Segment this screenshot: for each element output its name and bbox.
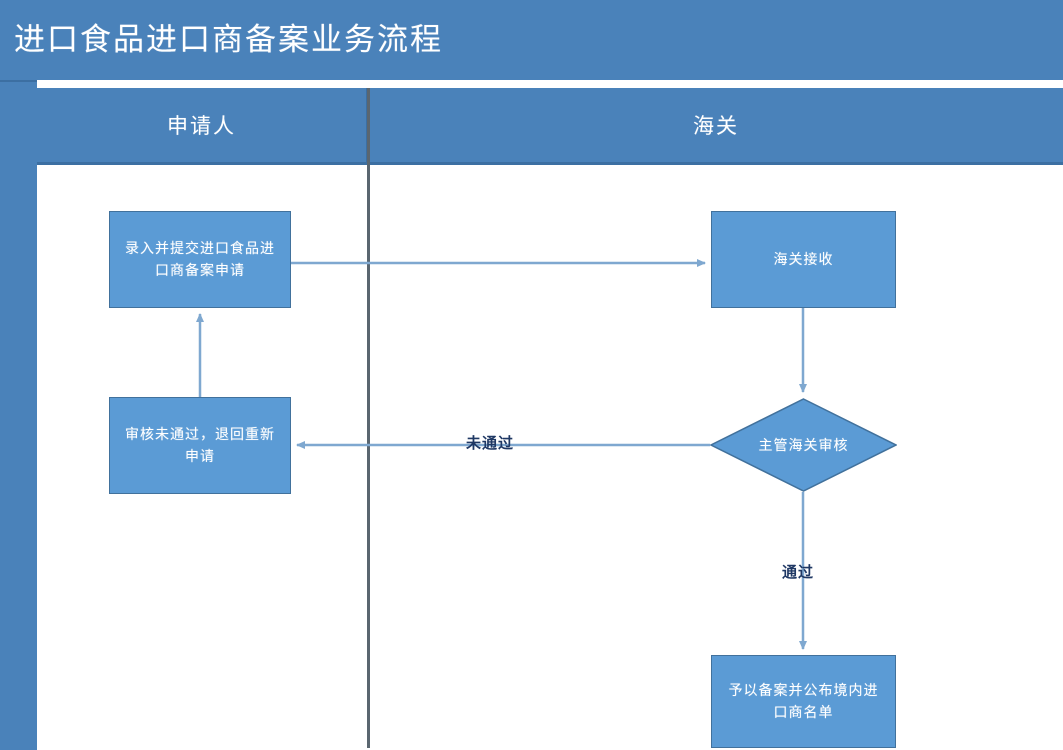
lane-header-applicant-label: 申请人 [167,110,236,140]
node-grant-filing-publish-label: 予以备案并公布境内进口商名单 [722,680,885,724]
flowchart-canvas: 进口食品进口商备案业务流程 申请人 海关 录入并提交进口食品进口商备案申请 [0,0,1063,748]
edge-label-not-passed: 未通过 [466,432,514,453]
lane-header-customs-label: 海关 [693,110,739,140]
diamond-shape-icon [710,398,897,492]
swimlane-left-band [0,80,37,750]
node-submit-application[interactable]: 录入并提交进口食品进口商备案申请 [109,211,291,308]
edge-label-passed: 通过 [782,561,814,582]
node-customs-receive-label: 海关接收 [774,249,834,271]
lane-header-customs: 海关 [369,88,1063,162]
title-bar: 进口食品进口商备案业务流程 [0,0,1063,80]
node-review-failed-return[interactable]: 审核未通过，退回重新申请 [109,397,291,494]
node-review-failed-return-label: 审核未通过，退回重新申请 [120,424,280,468]
node-customs-review-decision[interactable]: 主管海关审核 [710,398,897,492]
lane-header-applicant: 申请人 [37,88,368,162]
page-title: 进口食品进口商备案业务流程 [14,18,443,62]
lane-divider [367,88,370,748]
node-grant-filing-publish[interactable]: 予以备案并公布境内进口商名单 [711,655,896,748]
node-customs-receive[interactable]: 海关接收 [711,211,896,308]
node-submit-application-label: 录入并提交进口食品进口商备案申请 [120,238,280,282]
